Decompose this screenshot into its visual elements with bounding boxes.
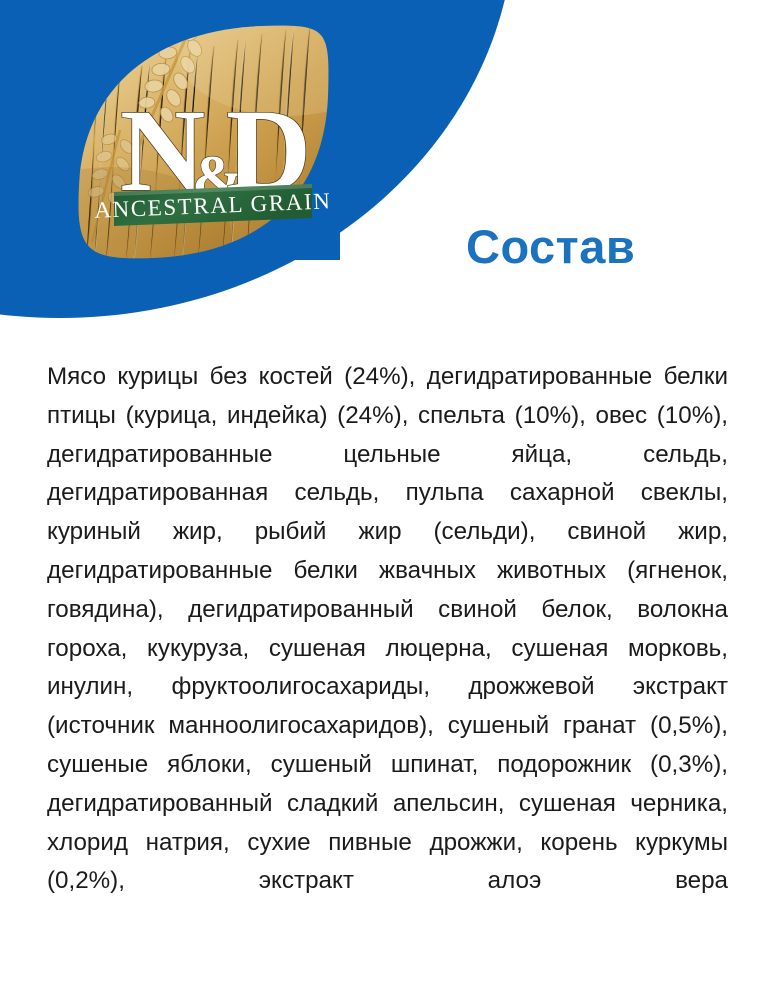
composition-section: Мясо курицы без костей (24%), дегидратир… <box>47 358 728 940</box>
leaf-badge-icon: N & D ANCESTRAL GRAIN <box>72 22 334 260</box>
page-title: Состав <box>466 223 635 270</box>
composition-text: Мясо курицы без костей (24%), дегидратир… <box>47 358 728 940</box>
brand-logo: N & D ANCESTRAL GRAIN <box>72 22 334 260</box>
page-header: N & D ANCESTRAL GRAIN Состав <box>0 0 773 330</box>
composition-page: N & D ANCESTRAL GRAIN Состав Мясо курицы… <box>0 0 773 1000</box>
